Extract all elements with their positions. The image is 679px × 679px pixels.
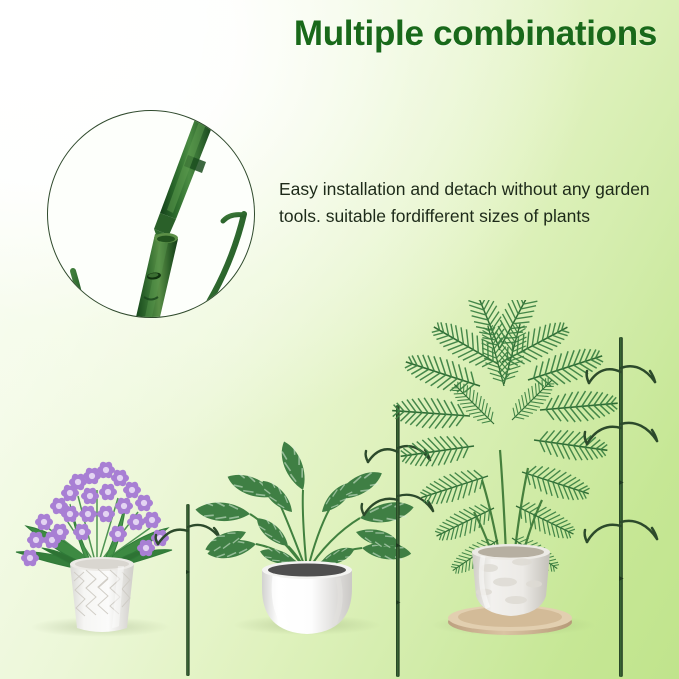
- flower-cluster: [21, 460, 169, 569]
- closeup-circle-inset: [47, 110, 255, 318]
- stake-connector-illustration: [48, 111, 254, 317]
- product-feature-banner: Multiple combinations: [0, 0, 679, 679]
- description-text: Easy installation and detach without any…: [279, 176, 651, 230]
- flowering-plant-purple: [16, 460, 172, 632]
- monstera-plant: [194, 438, 415, 634]
- white-stone-pot: [472, 544, 550, 616]
- white-glossy-pot: [262, 561, 352, 634]
- upper-rod-segment: [154, 111, 216, 245]
- plants-and-stakes-illustration: [0, 300, 679, 679]
- plant-stake-large: [585, 337, 657, 677]
- page-title: Multiple combinations: [0, 14, 657, 54]
- palm-plant: [391, 300, 619, 635]
- plant-showcase-scene: [0, 300, 679, 679]
- white-textured-pot: [70, 557, 134, 632]
